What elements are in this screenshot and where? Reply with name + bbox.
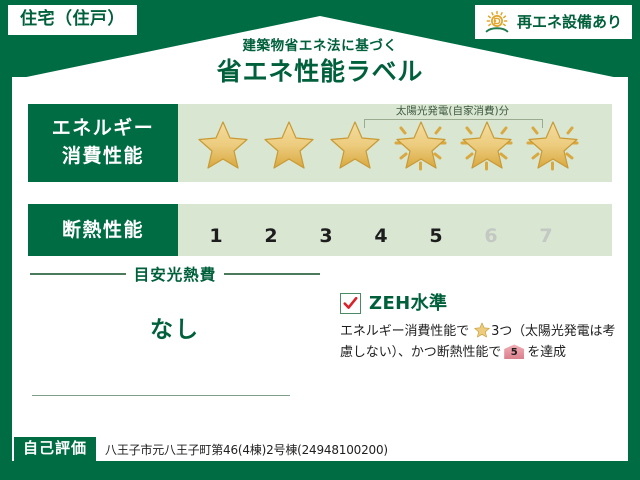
zeh-standard-block: ZEH水準 エネルギー消費性能で 3つ（太陽光発電は考慮しない）、かつ断熱性能で… xyxy=(340,293,618,364)
star-solar-icon xyxy=(521,112,584,174)
property-address: 八王子市元八王子町第46(4棟)2号棟(24948100200) xyxy=(105,441,388,458)
energy-star-rating xyxy=(178,112,584,174)
evaluation-id: fa6c1199-fdee-4e85 xyxy=(482,451,627,463)
insulation-level-number: 6 xyxy=(484,227,497,251)
insulation-level-number: 1 xyxy=(209,227,222,251)
insulation-level-number: 3 xyxy=(319,227,332,251)
energy-label-line2: 消費性能 xyxy=(62,143,144,171)
star-icon xyxy=(191,112,254,174)
insulation-level-6: 6 xyxy=(465,217,517,251)
heading-rule-left xyxy=(30,273,126,275)
renewable-equipment-badge: 再エネ設備あり xyxy=(475,5,632,39)
red-check-icon xyxy=(340,293,361,314)
renewable-badge-label: 再エネ設備あり xyxy=(517,15,622,30)
title-block: 建築物省エネ法に基づく 省エネ性能ラベル xyxy=(0,38,640,87)
insulation-performance-value: 1 2 3 4 5 xyxy=(178,204,612,256)
utility-cost-heading-text: 目安光熱費 xyxy=(134,263,217,285)
self-evaluation-badge: 自己評価 xyxy=(14,437,96,461)
zeh-description: エネルギー消費性能で 3つ（太陽光発電は考慮しない）、かつ断熱性能で 5 を達成 xyxy=(340,321,618,364)
energy-performance-value: 太陽光発電(自家消費)分 xyxy=(178,104,612,182)
footer-right: 評価日 2025年8月1日 fa6c1199-fdee-4e85 xyxy=(482,434,627,463)
star-icon xyxy=(323,112,386,174)
insulation-level-7: 7 xyxy=(520,217,572,251)
insulation-badge-number: 5 xyxy=(504,346,524,359)
footer-left: 自己評価 八王子市元八王子町第46(4棟)2号棟(24948100200) xyxy=(14,437,388,461)
utility-cost-heading: 目安光熱費 xyxy=(30,263,320,285)
insulation-performance-label: 断熱性能 xyxy=(28,204,178,256)
energy-label-line1: エネルギー xyxy=(52,115,155,143)
insulation-level-5: 5 xyxy=(410,209,462,251)
utility-cost-divider xyxy=(32,395,290,396)
house-type-tag: 住宅（住戸） xyxy=(8,5,137,35)
star-icon xyxy=(257,112,320,174)
insulation-level-scale: 1 2 3 4 5 xyxy=(178,209,572,251)
insulation-level-number: 4 xyxy=(374,227,387,251)
insulation-level-2: 2 xyxy=(245,217,297,251)
star-solar-icon xyxy=(389,112,452,174)
insulation-label-text: 断熱性能 xyxy=(62,219,144,242)
zeh-desc-part1: エネルギー消費性能で xyxy=(340,324,469,339)
star-icon xyxy=(474,322,490,338)
utility-cost-value: なし xyxy=(30,310,320,344)
title-main: 省エネ性能ラベル xyxy=(0,56,640,87)
insulation-level-number: 5 xyxy=(429,227,442,251)
zeh-desc-part3: を達成 xyxy=(527,345,566,360)
energy-performance-label: エネルギー 消費性能 xyxy=(28,104,178,182)
title-subtitle: 建築物省エネ法に基づく xyxy=(0,38,640,54)
insulation-level-number: 7 xyxy=(539,227,552,251)
insulation-level-3: 3 xyxy=(300,217,352,251)
footer-bar xyxy=(0,461,640,480)
sun-renewable-icon xyxy=(483,10,511,34)
star-solar-icon xyxy=(455,112,518,174)
energy-performance-label: 住宅（住戸） 再エネ設備あり xyxy=(0,0,640,480)
energy-performance-row: エネルギー 消費性能 太陽光発電(自家消費)分 xyxy=(28,104,612,182)
zeh-title: ZEH水準 xyxy=(369,295,447,313)
insulation-level-number: 2 xyxy=(264,227,277,251)
insulation-performance-row: 断熱性能 1 2 3 4 xyxy=(28,204,612,256)
heading-rule-right xyxy=(224,273,320,275)
insulation-level-1: 1 xyxy=(190,217,242,251)
insulation-badge-5-icon: 5 xyxy=(504,344,524,359)
insulation-level-4: 4 xyxy=(355,209,407,251)
evaluation-date: 評価日 2025年8月1日 xyxy=(482,434,627,450)
zeh-heading: ZEH水準 xyxy=(340,293,618,314)
